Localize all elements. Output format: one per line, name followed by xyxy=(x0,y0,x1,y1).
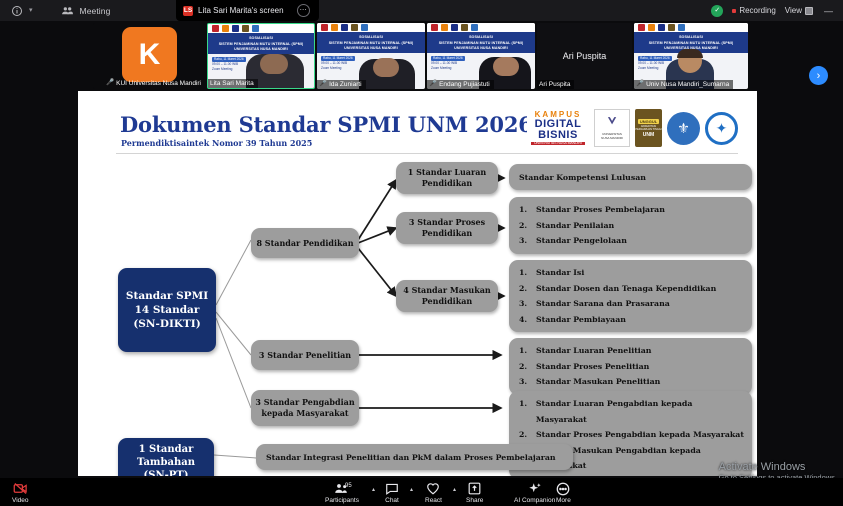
thumb-logo-row xyxy=(317,23,425,32)
universitas-nusa-mandiri-logo: ᘁ UNIVERSITAS NUSA MANDIRI xyxy=(594,109,630,147)
page-subtitle: Permendiktisaintek Nomor 39 Tahun 2025 xyxy=(121,138,312,148)
thumb-title: SOSIALISASI SISTEM PENJAMINAN MUTU INTER… xyxy=(208,33,314,54)
ai-companion-label: AI Companion xyxy=(514,497,555,504)
sharing-label: Lita Sari Marita's screen xyxy=(198,6,284,15)
list-masukan-pendidikan: 1.Standar Isi 2.Standar Dosen dan Tenaga… xyxy=(509,260,752,332)
tut-wuri-handayani-logo: ⚜ xyxy=(667,112,700,145)
thumb-title: SOSIALISASI SISTEM PENJAMINAN MUTU INTER… xyxy=(427,32,535,53)
merdeka-belajar-logo: ✦ xyxy=(705,112,738,145)
recording-dot-icon xyxy=(732,9,736,13)
ai-companion-button[interactable]: AI Companion xyxy=(514,482,555,504)
meeting-menu-label[interactable]: Meeting xyxy=(80,6,111,16)
list-penelitian: 1.Standar Luaran Penelitian 2.Standar Pr… xyxy=(509,338,752,395)
participants-count: 95 xyxy=(345,483,352,489)
chat-icon xyxy=(385,482,399,495)
video-label: Video xyxy=(12,497,29,504)
extra-node-tambahan: 1 Standar Tambahan (SN-PT) xyxy=(118,438,214,476)
video-tile[interactable]: SOSIALISASI SISTEM PENJAMINAN MUTU INTER… xyxy=(317,23,425,89)
participants-label: Participants xyxy=(325,497,359,504)
video-button[interactable]: Video xyxy=(12,482,29,504)
list-item: 3.Standar Sarana dan Prasarana xyxy=(519,296,744,312)
meeting-icon xyxy=(61,4,74,17)
list-proses-pendidikan: 1.Standar Proses Pembelajaran 2.Standar … xyxy=(509,197,752,254)
participant-name-bar: 🎤 Univ Nusa Mandiri_Sumarna xyxy=(634,80,733,89)
list-item: 1.Standar Luaran Pengabdian kepada Masya… xyxy=(519,396,744,427)
video-tile[interactable]: SOSIALISASI SISTEM PENJAMINAN MUTU INTER… xyxy=(207,23,315,89)
react-label: React xyxy=(425,497,442,504)
minimize-button[interactable]: — xyxy=(822,6,835,16)
participant-name: KUI Universitas Nusa Mandiri xyxy=(116,80,201,87)
header-divider xyxy=(116,153,738,154)
info-icon[interactable] xyxy=(10,4,23,17)
recording-label: Recording xyxy=(739,6,775,15)
shield-check-icon[interactable]: ✓ xyxy=(711,5,723,17)
video-tile[interactable]: K 🎤 KUI Universitas Nusa Mandiri xyxy=(93,23,205,89)
view-label: View xyxy=(785,6,802,15)
ellipsis-icon xyxy=(556,482,570,495)
chevron-up-icon[interactable]: ▴ xyxy=(372,486,375,493)
layout-icon xyxy=(805,7,813,15)
sub-branch-proses-pendidikan: 3 Standar Proses Pendidikan xyxy=(396,212,498,244)
react-button[interactable]: React ▴ xyxy=(425,482,442,504)
avatar: K xyxy=(122,27,177,82)
chat-button[interactable]: Chat ▴ xyxy=(385,482,399,504)
thumb-logo-row xyxy=(208,24,314,33)
share-button[interactable]: Share xyxy=(466,482,483,504)
page-title: Dokumen Standar SPMI UNM 2026 xyxy=(120,112,533,137)
sparkle-icon xyxy=(528,482,542,495)
chevron-down-icon[interactable]: ▾ xyxy=(29,7,33,14)
watermark-title: Activate Windows xyxy=(719,461,837,473)
list-tambahan: Standar Integrasi Penelitian dan PkM dal… xyxy=(256,444,573,470)
view-button[interactable]: View xyxy=(785,6,813,15)
participant-name-bar: Ari Puspita xyxy=(537,80,574,89)
thumb-info: Rabu, 11 Maret 2026 09.00 – 11.00 WIB Zo… xyxy=(431,56,465,71)
shared-screen-area: Dokumen Standar SPMI UNM 2026 Permendikt… xyxy=(78,91,757,476)
video-tile[interactable]: Ari Puspita Ari Puspita xyxy=(537,23,632,89)
branch-node-penelitian: 3 Standar Penelitian xyxy=(251,340,359,370)
participant-name-bar: 🎤 Ida Zuniarti xyxy=(317,80,366,89)
more-options-icon[interactable]: ⋯ xyxy=(297,4,310,17)
video-tile[interactable]: SOSIALISASI SISTEM PENJAMINAN MUTU INTER… xyxy=(634,23,748,89)
share-screen-icon xyxy=(468,482,481,495)
kampus-digital-bisnis-logo: KAMPUS DIGITAL BISNIS UNIVERSITAS NUSA M… xyxy=(527,110,589,146)
participant-name-bar: Lita Sari Marita xyxy=(208,79,258,88)
list-item: 4.Standar Pembiayaan xyxy=(519,312,744,328)
thumb-info: Rabu, 11 Maret 2026 09.00 – 11.00 WIB Zo… xyxy=(212,57,246,72)
list-item: 1.Standar Isi xyxy=(519,265,744,281)
branch-node-pengabdian: 3 Standar Pengabdian kepada Masyarakat xyxy=(251,390,359,426)
meeting-toolbar: Video Participants 95 ▴ Chat ▴ xyxy=(0,478,843,506)
list-item: 1.Standar Proses Pembelajaran xyxy=(519,202,744,218)
list-item: 3.Standar Masukan Penelitian xyxy=(519,374,744,390)
thumb-info: Rabu, 11 Maret 2026 09.00 – 11.00 WIB Zo… xyxy=(321,56,355,71)
mic-muted-icon: 🎤 xyxy=(319,81,327,88)
recording-indicator[interactable]: Recording xyxy=(732,6,775,15)
participant-name: Endang Pujiastuti xyxy=(439,81,490,88)
participant-name: Ari Puspita xyxy=(539,81,570,88)
list-item: 1.Standar Luaran Penelitian xyxy=(519,343,744,359)
chevron-up-icon[interactable]: ▴ xyxy=(453,486,456,493)
heart-icon xyxy=(426,482,440,495)
screen-share-indicator[interactable]: LS Lita Sari Marita's screen ⋯ xyxy=(176,0,319,21)
list-kompetensi-lulusan: Standar Kompetensi Lulusan xyxy=(509,164,752,190)
mic-muted-icon: 🎤 xyxy=(429,81,437,88)
sub-branch-luaran-pendidikan: 1 Standar Luaran Pendidikan xyxy=(396,162,498,194)
participant-name: Ida Zuniarti xyxy=(329,81,362,88)
presentation-slide: Dokumen Standar SPMI UNM 2026 Permendikt… xyxy=(96,100,756,475)
participants-button[interactable]: Participants 95 ▴ xyxy=(325,482,359,504)
participant-filmstrip[interactable]: K 🎤 KUI Universitas Nusa Mandiri SOSIALI… xyxy=(0,21,843,91)
list-item: 3.Standar Pengelolaan xyxy=(519,233,744,249)
thumb-logo-row xyxy=(427,23,535,32)
participant-name: Lita Sari Marita xyxy=(210,80,254,87)
chevron-up-icon[interactable]: ▴ xyxy=(410,486,413,493)
thumb-logo-row xyxy=(634,23,748,32)
list-item: 2.Standar Penilaian xyxy=(519,218,744,234)
sub-branch-masukan-pendidikan: 4 Standar Masukan Pendidikan xyxy=(396,280,498,312)
participant-name: Univ Nusa Mandiri_Sumarna xyxy=(646,81,729,88)
list-item: 2.Standar Dosen dan Tenaga Kependidikan xyxy=(519,281,744,297)
logo-row: KAMPUS DIGITAL BISNIS UNIVERSITAS NUSA M… xyxy=(527,109,738,147)
participant-name-bar: 🎤 Endang Pujiastuti xyxy=(427,80,494,89)
list-item: 2.Standar Proses Pengabdian kepada Masya… xyxy=(519,427,744,443)
akreditasi-unggul-logo: UNGGUL AKREDITASI PERGURUAN TINGGI UNM xyxy=(635,109,662,147)
thumb-title: SOSIALISASI SISTEM PENJAMINAN MUTU INTER… xyxy=(317,32,425,53)
list-item: 2.Standar Proses Penelitian xyxy=(519,359,744,375)
zoom-meeting-window: ▾ Meeting LS Lita Sari Marita's screen ⋯… xyxy=(0,0,843,506)
chevron-right-icon[interactable]: › xyxy=(809,66,828,85)
mic-muted-icon: 🎤 xyxy=(636,81,644,88)
video-off-icon xyxy=(13,482,28,495)
more-button[interactable]: More xyxy=(556,482,571,504)
more-label: More xyxy=(556,497,571,504)
sharer-avatar: LS xyxy=(183,6,193,16)
center-node: Standar SPMI 14 Standar (SN-DIKTI) xyxy=(118,268,216,352)
window-title-bar: ▾ Meeting LS Lita Sari Marita's screen ⋯… xyxy=(0,0,843,21)
chat-label: Chat xyxy=(385,497,399,504)
branch-node-pendidikan: 8 Standar Pendidikan xyxy=(251,228,359,258)
participant-name-bar: 🎤 KUI Universitas Nusa Mandiri xyxy=(104,79,205,88)
video-tile[interactable]: SOSIALISASI SISTEM PENJAMINAN MUTU INTER… xyxy=(427,23,535,89)
mic-muted-icon: 🎤 xyxy=(106,80,114,87)
share-label: Share xyxy=(466,497,483,504)
